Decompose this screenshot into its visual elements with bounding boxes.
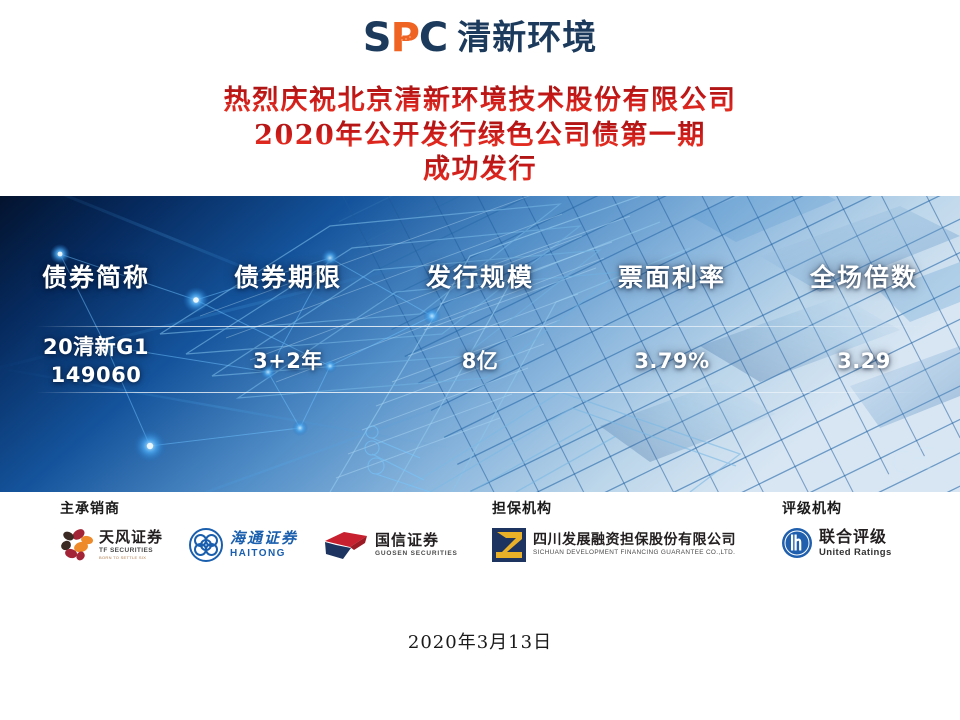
haitong-circle-icon (189, 528, 223, 562)
cell-bond-name: 20清新G1 149060 (0, 334, 192, 389)
group-underwriters: 主承销商 天风证券 TF SECURITIES (60, 498, 458, 562)
guosen-ribbon-icon (324, 530, 368, 560)
united-ratings-monogram-icon (782, 528, 812, 558)
cell-bond-term: 3+2年 (192, 334, 384, 389)
logo-sichuan-development: 四川发展融资担保股份有限公司 SICHUAN DEVELOPMENT FINAN… (492, 528, 736, 562)
tf-securities-name-en: TF SECURITIES (99, 548, 163, 555)
cell-issue-size: 8亿 (384, 334, 576, 389)
logo-haitong-securities: 海通证券 HAITONG (189, 528, 298, 562)
spc-letter-p: P (391, 18, 419, 58)
underwriters-title: 主承销商 (60, 498, 458, 518)
spc-letter-s: S (363, 18, 391, 58)
group-rating: 评级机构 联合评级 United Ratings (782, 498, 892, 558)
rating-title: 评级机构 (782, 498, 892, 518)
haitong-name-en: HAITONG (230, 549, 298, 559)
logo-tf-securities: 天风证券 TF SECURITIES BORN TO SETTLE SIX (60, 529, 163, 561)
haitong-name-cn: 海通证券 (230, 531, 298, 546)
spc-letter-c: C (419, 18, 447, 58)
halftone-dots-icon (400, 34, 413, 46)
sichuan-development-name-cn: 四川发展融资担保股份有限公司 (533, 533, 736, 547)
logo-guosen-securities: 国信证券 GUOSEN SECURITIES (324, 530, 458, 560)
announcement-page: SPC 清新环境 热烈庆祝北京清新环境技术股份有限公司 2020年公开发行绿色公… (0, 0, 960, 720)
bond-short-name: 20清新G1 (0, 334, 192, 362)
headline-line-1: 热烈庆祝北京清新环境技术股份有限公司 (0, 84, 960, 119)
united-ratings-name-cn: 联合评级 (819, 529, 892, 545)
hero-banner: 债券简称 债券期限 发行规模 票面利率 全场倍数 20清新G1 149060 3… (0, 196, 960, 492)
column-header-issue-size: 发行规模 (384, 258, 576, 294)
bond-details-table: 债券简称 债券期限 发行规模 票面利率 全场倍数 20清新G1 149060 3… (0, 196, 960, 492)
sponsors-section: 主承销商 天风证券 TF SECURITIES (0, 498, 960, 618)
tf-securities-tagline: BORN TO SETTLE SIX (99, 556, 163, 560)
united-ratings-name-en: United Ratings (819, 548, 892, 558)
issue-date: 2020年3月13日 (0, 628, 960, 654)
headline: 热烈庆祝北京清新环境技术股份有限公司 2020年公开发行绿色公司债第一期 成功发… (0, 84, 960, 188)
cell-subscription-multiple: 3.29 (768, 334, 960, 389)
bond-code: 149060 (0, 362, 192, 390)
table-data-row: 20清新G1 149060 3+2年 8亿 3.79% 3.29 (0, 334, 960, 389)
table-divider-bottom (36, 392, 924, 393)
guosen-name-cn: 国信证券 (375, 533, 458, 548)
guarantee-title: 担保机构 (492, 498, 736, 518)
company-name-cn: 清新环境 (457, 21, 597, 55)
group-guarantee: 担保机构 四川发展融资担保股份有限公司 SICHUAN DEVELOPMENT … (492, 498, 736, 562)
table-header-row: 债券简称 债券期限 发行规模 票面利率 全场倍数 (0, 258, 960, 294)
tf-securities-flower-icon (60, 529, 92, 561)
headline-line-3: 成功发行 (0, 153, 960, 188)
sichuan-development-name-en: SICHUAN DEVELOPMENT FINANCING GUARANTEE … (533, 550, 736, 556)
table-divider-top (36, 326, 924, 327)
column-header-coupon-rate: 票面利率 (576, 258, 768, 294)
column-header-subscription-multiple: 全场倍数 (768, 258, 960, 294)
headline-line-2: 2020年公开发行绿色公司债第一期 (0, 119, 960, 154)
logo-united-ratings: 联合评级 United Ratings (782, 528, 892, 558)
sichuan-development-z-icon (492, 528, 526, 562)
cell-coupon-rate: 3.79% (576, 334, 768, 389)
column-header-bond-term: 债券期限 (192, 258, 384, 294)
tf-securities-name-cn: 天风证券 (99, 530, 163, 545)
guosen-name-en: GUOSEN SECURITIES (375, 551, 458, 558)
company-logo: SPC 清新环境 (0, 14, 960, 62)
column-header-bond-name: 债券简称 (0, 258, 192, 294)
spc-logomark: SPC (363, 18, 448, 58)
